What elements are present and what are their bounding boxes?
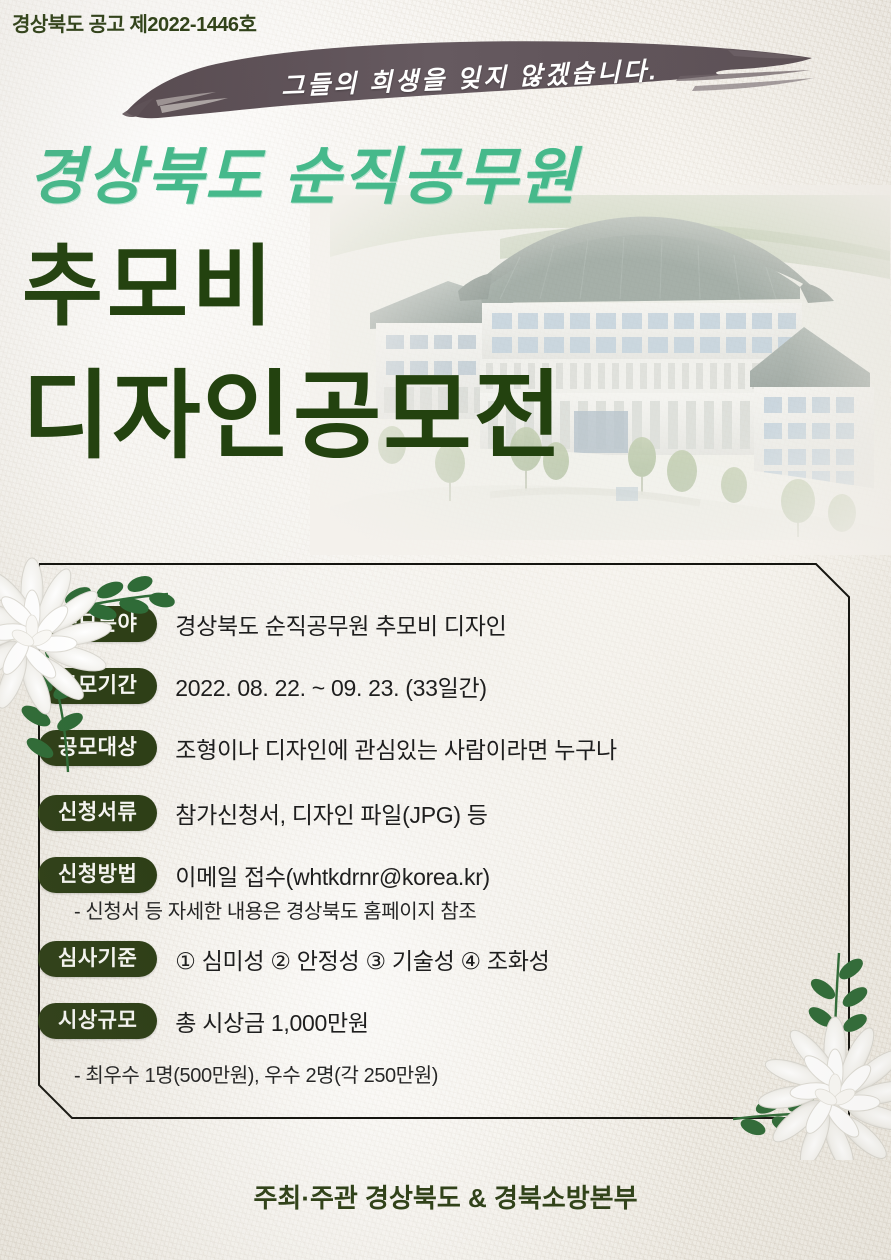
announcement-number: 경상북도 공고 제2022-1446호: [12, 8, 256, 37]
info-row-4: 신청방법 이메일 접수(whtkdrnr@korea.kr): [38, 856, 490, 894]
info-label-6: 시상규모: [38, 1003, 157, 1039]
info-label-1: 공모기간: [38, 668, 157, 704]
poster-root: 경상북도 공고 제2022-1446호 그들의 희생을 잊지 않겠습니다.: [0, 0, 891, 1260]
info-value-5: ① 심미성 ② 안정성 ③ 기술성 ④ 조화성: [175, 942, 549, 976]
brush-stroke-banner: 그들의 희생을 잊지 않겠습니다.: [120, 34, 820, 120]
info-value-3: 참가신청서, 디자인 파일(JPG) 등: [175, 796, 487, 830]
subtitle-script: 경상북도 순직공무원: [28, 126, 579, 216]
main-title-line-2: 디자인공모전: [22, 369, 564, 465]
info-label-4: 신청방법: [38, 857, 157, 893]
info-label-5: 심사기준: [38, 941, 157, 977]
info-row-2: 공모대상 조형이나 디자인에 관심있는 사람이라면 누구나: [38, 729, 617, 767]
info-row-5: 심사기준 ① 심미성 ② 안정성 ③ 기술성 ④ 조화성: [38, 940, 550, 978]
info-value-4: 이메일 접수(whtkdrnr@korea.kr): [175, 858, 490, 892]
info-row-0: 공모분야 경상북도 순직공무원 추모비 디자인: [38, 605, 506, 643]
info-row-1: 공모기간 2022. 08. 22. ~ 09. 23. (33일간): [38, 667, 487, 705]
info-value-1: 2022. 08. 22. ~ 09. 23. (33일간): [175, 669, 486, 703]
info-value-2: 조형이나 디자인에 관심있는 사람이라면 누구나: [175, 731, 617, 765]
info-value-0: 경상북도 순직공무원 추모비 디자인: [175, 607, 506, 641]
info-value-6: 총 시상금 1,000만원: [175, 1004, 368, 1038]
main-title-line-1: 추모비: [22, 243, 277, 331]
info-label-2: 공모대상: [38, 730, 157, 766]
info-row-6: 시상규모 총 시상금 1,000만원: [38, 1002, 369, 1040]
info-row-3: 신청서류 참가신청서, 디자인 파일(JPG) 등: [38, 794, 488, 832]
apply-method-note: - 신청서 등 자세한 내용은 경상북도 홈페이지 참조: [74, 895, 476, 924]
organizer-footer: 주최·주관 경상북도 & 경북소방본부: [0, 1178, 891, 1215]
prize-detail-note: - 최우수 1명(500만원), 우수 2명(각 250만원): [74, 1059, 438, 1088]
info-label-3: 신청서류: [38, 795, 157, 831]
info-label-0: 공모분야: [38, 606, 157, 642]
info-rows-container: 공모분야 경상북도 순직공무원 추모비 디자인 공모기간 2022. 08. 2…: [38, 563, 850, 1119]
